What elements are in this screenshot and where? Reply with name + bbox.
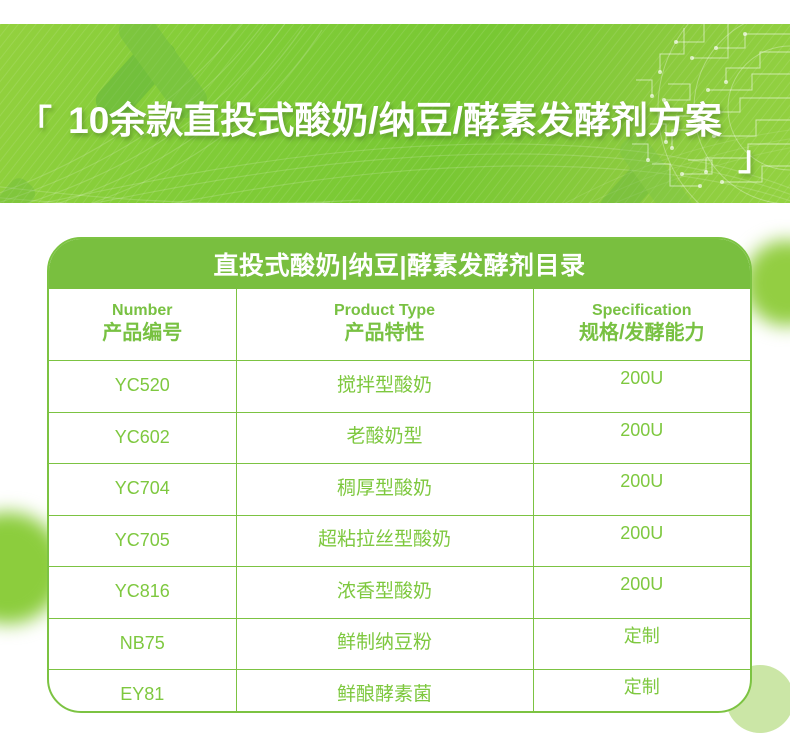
- column-header-product-type-cn: 产品特性: [237, 321, 533, 346]
- column-header-product-type-en: Product Type: [237, 301, 533, 321]
- cell-product-type: 鲜酿酵素菌: [236, 670, 533, 714]
- cell-product-type-value: 浓香型酸奶: [237, 582, 533, 603]
- cell-product-type-value: 搅拌型酸奶: [237, 376, 533, 397]
- cell-number-value: YC704: [49, 479, 236, 499]
- cell-specification: 200U: [533, 464, 750, 516]
- table-row: EY81 鲜酿酵素菌 定制: [49, 670, 750, 714]
- table-row: YC704 稠厚型酸奶 200U: [49, 464, 750, 516]
- cell-specification: 200U: [533, 361, 750, 413]
- table-header-row: Number 产品编号 Product Type 产品特性 Specificat…: [49, 289, 750, 361]
- cell-product-type: 老酸奶型: [236, 412, 533, 464]
- column-header-product-type: Product Type 产品特性: [236, 289, 533, 361]
- cell-specification: 定制: [533, 670, 750, 714]
- cell-product-type-value: 鲜酿酵素菌: [237, 685, 533, 706]
- table-row: YC816 浓香型酸奶 200U: [49, 567, 750, 619]
- product-catalog-card: 直投式酸奶|纳豆|酵素发酵剂目录 Number 产品编号 Product Typ…: [47, 237, 752, 713]
- cell-specification-value: 200U: [534, 421, 751, 441]
- table-row: YC705 超粘拉丝型酸奶 200U: [49, 515, 750, 567]
- cell-number-value: YC602: [49, 428, 236, 448]
- column-header-number-cn: 产品编号: [49, 321, 236, 346]
- cell-specification: 定制: [533, 618, 750, 670]
- product-table: Number 产品编号 Product Type 产品特性 Specificat…: [49, 289, 750, 713]
- cell-specification: 200U: [533, 567, 750, 619]
- cell-number: YC520: [49, 361, 236, 413]
- cell-specification: 200U: [533, 412, 750, 464]
- column-header-specification: Specification 规格/发酵能力: [533, 289, 750, 361]
- cell-product-type: 浓香型酸奶: [236, 567, 533, 619]
- catalog-title: 直投式酸奶|纳豆|酵素发酵剂目录: [49, 239, 750, 289]
- cell-number: EY81: [49, 670, 236, 714]
- table-row: NB75 鲜制纳豆粉 定制: [49, 618, 750, 670]
- title-bracket-right: 」: [738, 142, 772, 176]
- table-row: YC520 搅拌型酸奶 200U: [49, 361, 750, 413]
- cell-product-type: 稠厚型酸奶: [236, 464, 533, 516]
- cell-number: YC602: [49, 412, 236, 464]
- cell-specification-value: 定制: [534, 678, 751, 698]
- cell-number-value: YC705: [49, 531, 236, 551]
- cell-specification-value: 200U: [534, 472, 751, 492]
- cell-product-type: 超粘拉丝型酸奶: [236, 515, 533, 567]
- cell-number: YC816: [49, 567, 236, 619]
- cell-product-type-value: 鲜制纳豆粉: [237, 633, 533, 654]
- cell-product-type-value: 稠厚型酸奶: [237, 479, 533, 500]
- column-header-specification-en: Specification: [534, 301, 751, 321]
- cell-product-type: 搅拌型酸奶: [236, 361, 533, 413]
- cell-specification-value: 定制: [534, 627, 751, 647]
- cell-number-value: YC520: [49, 376, 236, 396]
- column-header-number-en: Number: [49, 301, 236, 321]
- column-header-specification-cn: 规格/发酵能力: [534, 321, 751, 346]
- cell-product-type: 鲜制纳豆粉: [236, 618, 533, 670]
- cell-number-value: YC816: [49, 582, 236, 602]
- cell-specification-value: 200U: [534, 575, 751, 595]
- cell-number: YC705: [49, 515, 236, 567]
- cell-specification: 200U: [533, 515, 750, 567]
- cell-specification-value: 200U: [534, 369, 751, 389]
- cell-number-value: EY81: [49, 685, 236, 705]
- cell-number-value: NB75: [49, 634, 236, 654]
- column-header-number: Number 产品编号: [49, 289, 236, 361]
- cell-number: YC704: [49, 464, 236, 516]
- cell-product-type-value: 超粘拉丝型酸奶: [237, 530, 533, 551]
- table-row: YC602 老酸奶型 200U: [49, 412, 750, 464]
- page-title: 10余款直投式酸奶/纳豆/酵素发酵剂方案: [0, 102, 790, 139]
- cell-specification-value: 200U: [534, 524, 751, 544]
- cell-number: NB75: [49, 618, 236, 670]
- page-banner: 「 10余款直投式酸奶/纳豆/酵素发酵剂方案 」: [0, 24, 790, 203]
- cell-product-type-value: 老酸奶型: [237, 427, 533, 448]
